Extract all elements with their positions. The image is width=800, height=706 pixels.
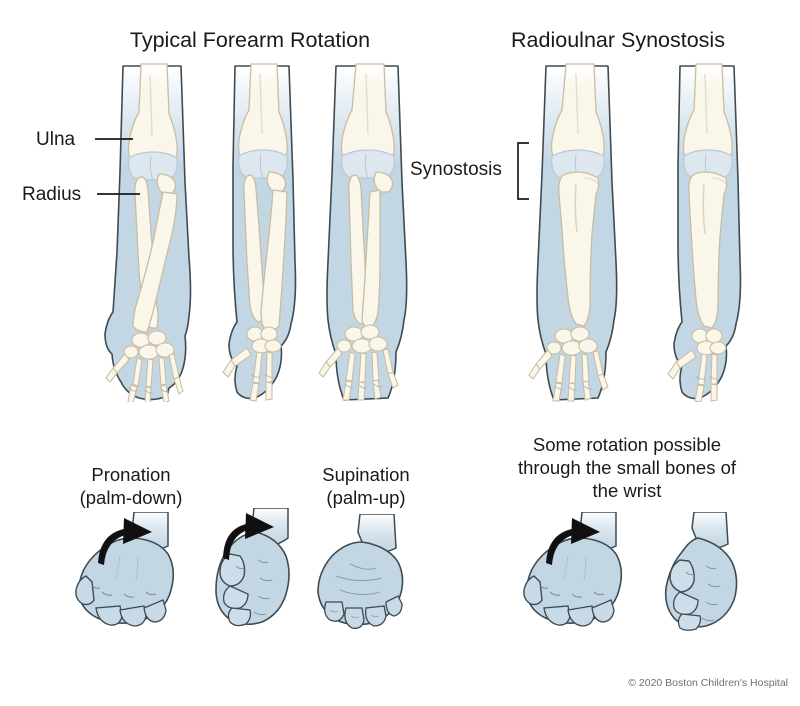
label-radius: Radius — [22, 184, 81, 205]
caption-wrist-rotation-line2: through the small bones of — [518, 457, 737, 478]
label-ulna: Ulna — [36, 129, 76, 150]
right-panel-title: Radioulnar Synostosis — [511, 28, 725, 52]
caption-pronation-line2: (palm-down) — [80, 487, 183, 508]
caption-wrist-rotation-line3: the wrist — [593, 480, 662, 501]
forearm-rotation-figure: Typical Forearm Rotation Radioulnar Syno… — [0, 0, 800, 706]
caption-pronation-line1: Pronation — [91, 464, 170, 485]
caption-wrist-rotation-line1: Some rotation possible — [533, 434, 721, 455]
copyright-credit: © 2020 Boston Children's Hospital — [628, 677, 788, 689]
caption-supination-line1: Supination — [322, 464, 409, 485]
left-panel-title: Typical Forearm Rotation — [130, 28, 370, 52]
caption-supination-line2: (palm-up) — [326, 487, 405, 508]
label-synostosis: Synostosis — [410, 159, 502, 180]
